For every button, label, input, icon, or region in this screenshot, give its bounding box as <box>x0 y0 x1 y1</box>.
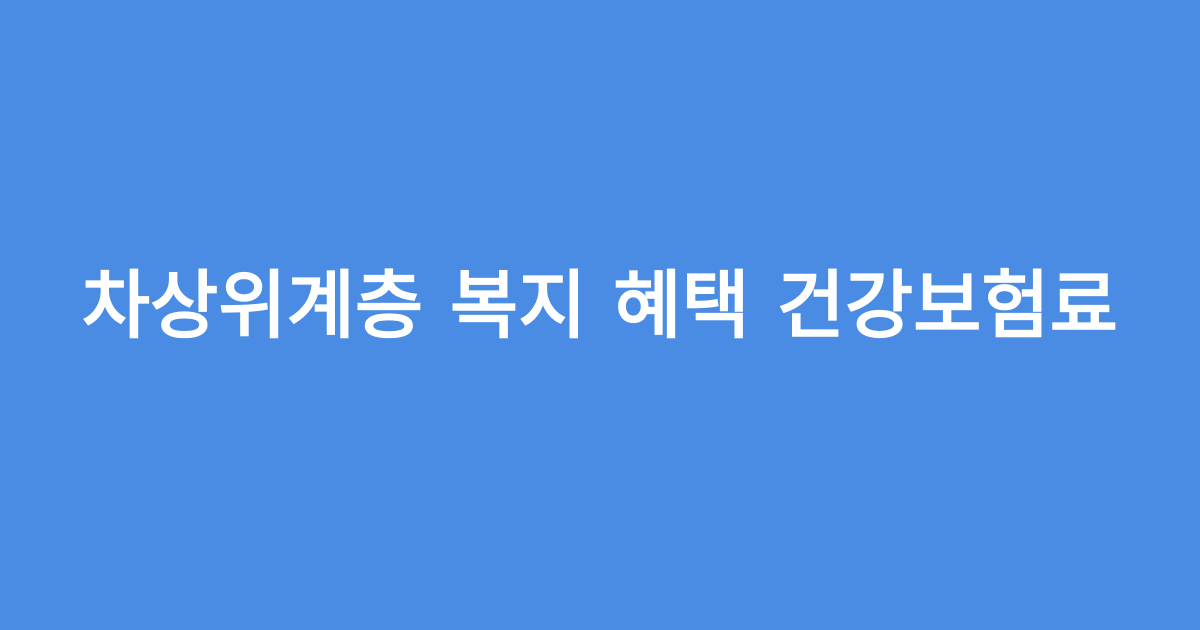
banner-content: 차상위계층 복지 혜택 건강보험료 <box>0 260 1200 352</box>
banner-title: 차상위계층 복지 혜택 건강보험료 <box>0 260 1200 352</box>
share-card-banner: 차상위계층 복지 혜택 건강보험료 <box>0 0 1200 630</box>
